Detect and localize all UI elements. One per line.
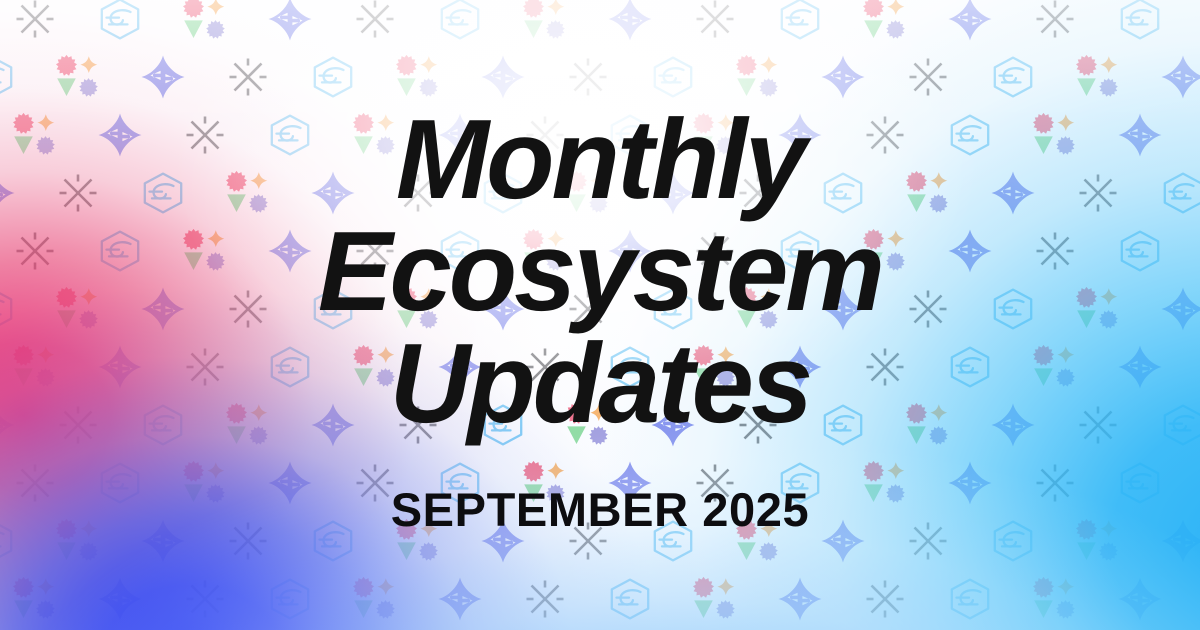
page-subtitle: SEPTEMBER 2025 — [391, 482, 810, 537]
page-title-line-1: Monthly — [318, 104, 882, 216]
page-title: Monthly Ecosystem Updates — [318, 104, 882, 440]
page-title-line-2: Ecosystem — [318, 216, 882, 328]
banner-text-block: Monthly Ecosystem Updates SEPTEMBER 2025 — [0, 0, 1200, 630]
ecosystem-update-banner: Monthly Ecosystem Updates SEPTEMBER 2025 — [0, 0, 1200, 630]
page-title-line-3: Updates — [318, 328, 882, 440]
